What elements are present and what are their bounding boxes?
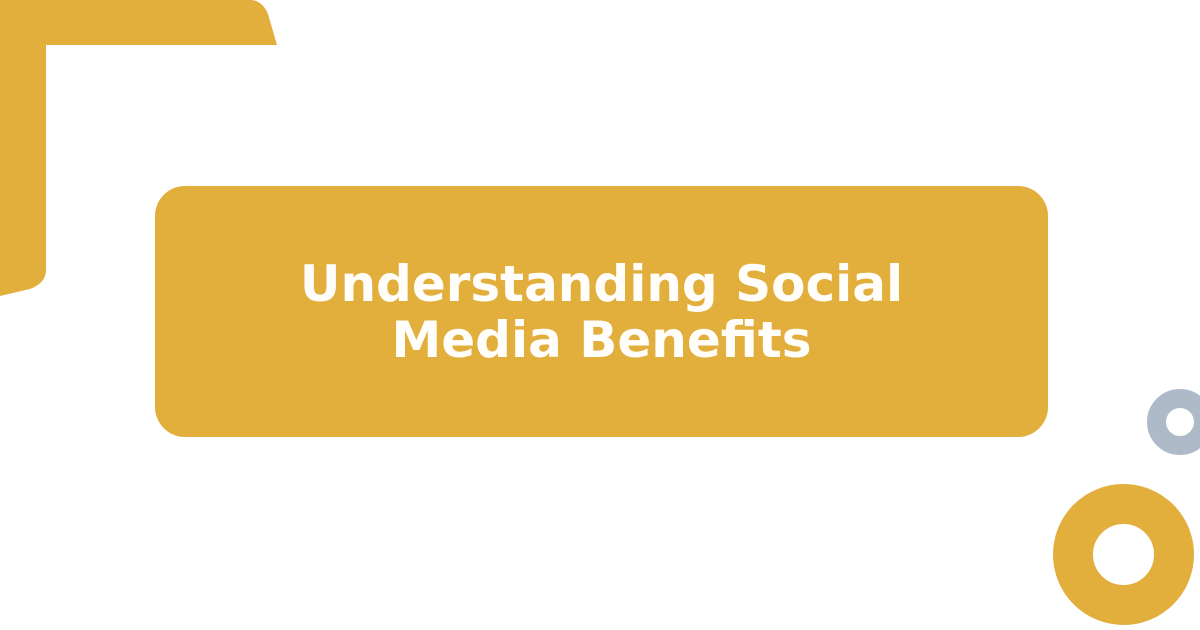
title-card: Understanding Social Media Benefits — [155, 186, 1048, 437]
gray-ring-icon — [1147, 389, 1200, 455]
poster-canvas: Understanding Social Media Benefits — [0, 0, 1200, 630]
page-title: Understanding Social Media Benefits — [252, 256, 952, 368]
yellow-ring-icon — [1053, 484, 1194, 625]
